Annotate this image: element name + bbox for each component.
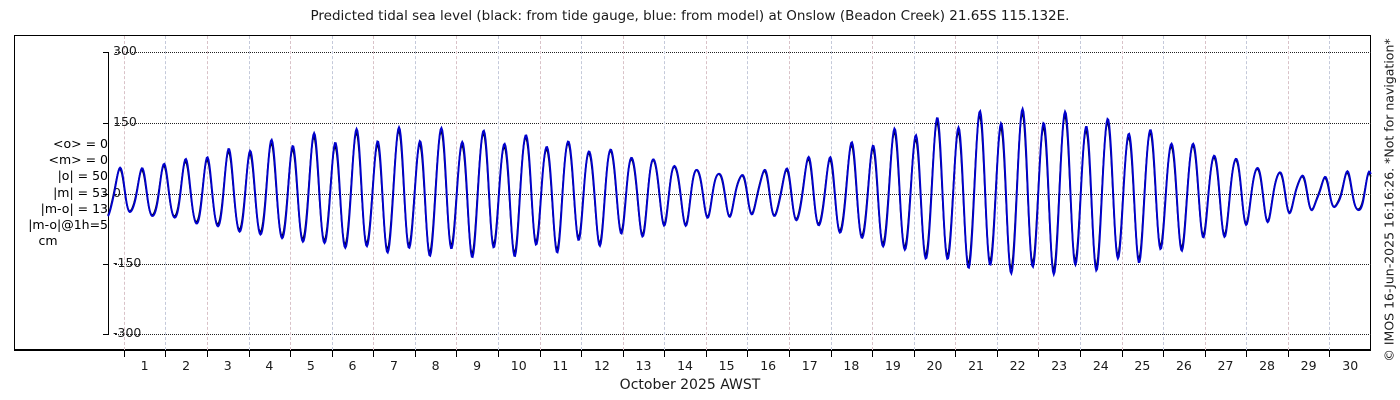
copyright-notice: © IMOS 16-Jun-2025 16:16:26. *Not for na…	[1379, 0, 1399, 400]
series-line-model	[108, 109, 1371, 274]
copyright-text: © IMOS 16-Jun-2025 16:16:26. *Not for na…	[1382, 38, 1397, 361]
tidal-chart-page: Predicted tidal sea level (black: from t…	[0, 0, 1400, 400]
x-axis-title: October 2025 AWST	[0, 377, 1380, 393]
tidal-series-plot	[0, 0, 1400, 400]
